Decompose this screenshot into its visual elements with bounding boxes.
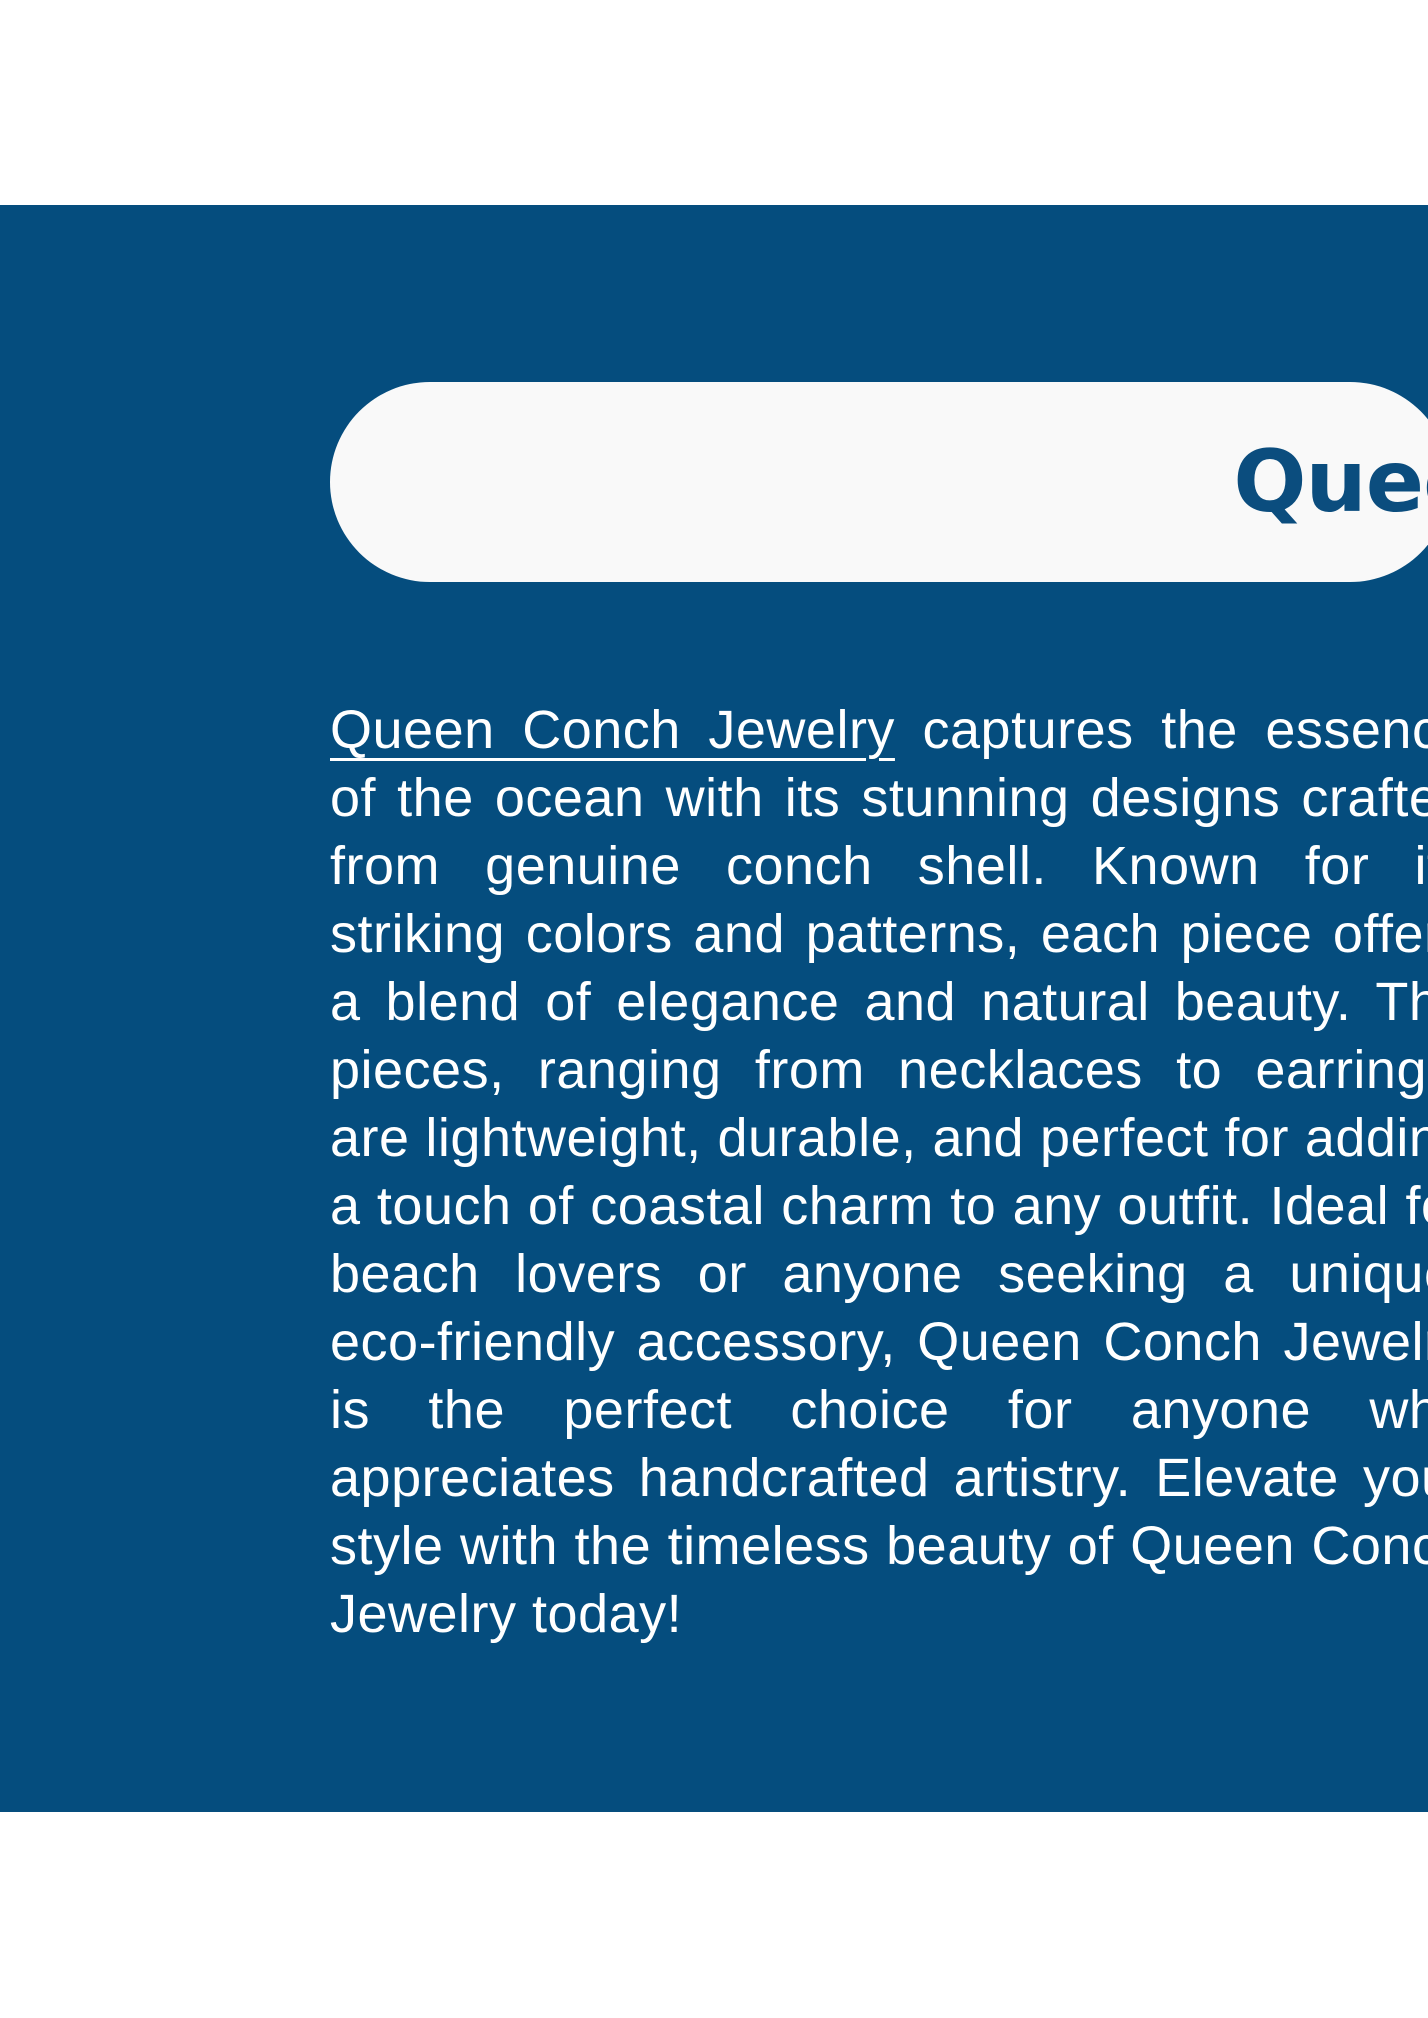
product-description-paragraph: Queen Conch Jewelry captures the essence…: [330, 696, 1428, 1648]
product-description-text: captures the essence of the ocean with i…: [330, 700, 1428, 1644]
page-root: Queen Con Queen Conch Jewelry captures t…: [0, 0, 1428, 2018]
title-pill-banner: Queen Con: [330, 382, 1428, 582]
page-title: Queen Con: [1233, 437, 1428, 527]
product-name-link[interactable]: Queen Conch Jewelry: [330, 700, 895, 760]
